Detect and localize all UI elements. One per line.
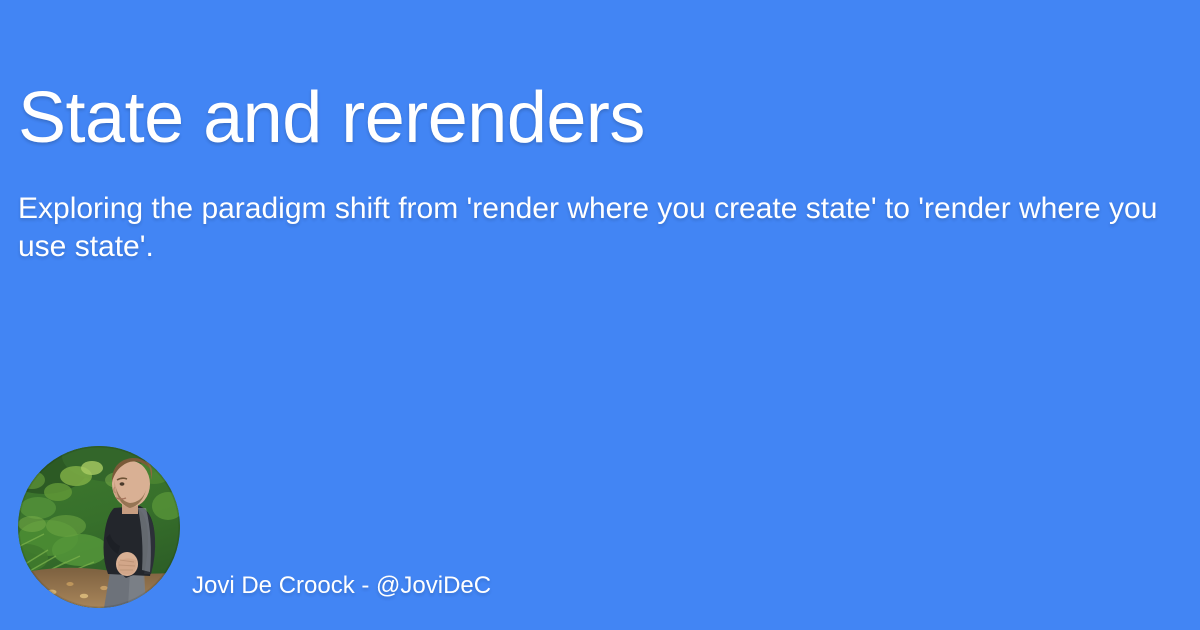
author-footer: Jovi De Croock - @JoviDeC	[18, 446, 491, 608]
page-subtitle: Exploring the paradigm shift from 'rende…	[18, 190, 1166, 267]
social-share-card: State and rerenders Exploring the paradi…	[0, 0, 1200, 630]
avatar	[18, 446, 180, 608]
author-credit: Jovi De Croock - @JoviDeC	[192, 572, 491, 600]
page-title: State and rerenders	[18, 80, 1178, 158]
avatar-photo-icon	[18, 446, 180, 608]
